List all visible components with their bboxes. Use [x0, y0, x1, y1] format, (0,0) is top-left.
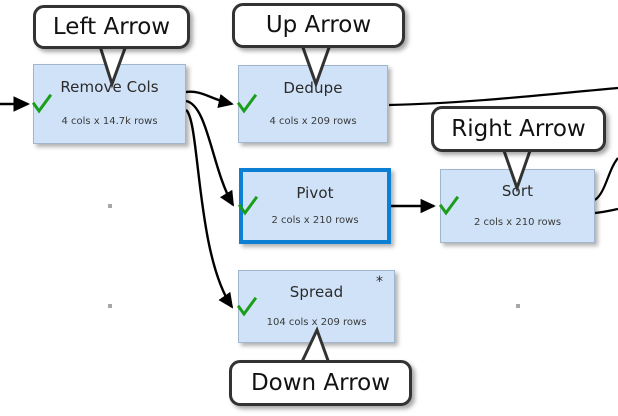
callout-down-arrow: Down Arrow [229, 360, 412, 406]
callout-up-arrow: Up Arrow [232, 3, 405, 48]
pipeline-canvas[interactable]: Remove Cols 4 cols x 14.7k rows Dedupe 4… [0, 0, 618, 416]
callout-tails [0, 0, 618, 416]
callout-label: Left Arrow [53, 16, 170, 39]
tail-up-arrow [301, 42, 331, 84]
callout-label: Up Arrow [266, 14, 371, 37]
callout-label: Down Arrow [251, 372, 390, 395]
callout-left-arrow: Left Arrow [33, 5, 190, 49]
callout-label: Right Arrow [451, 118, 586, 141]
callout-right-arrow: Right Arrow [431, 106, 606, 152]
